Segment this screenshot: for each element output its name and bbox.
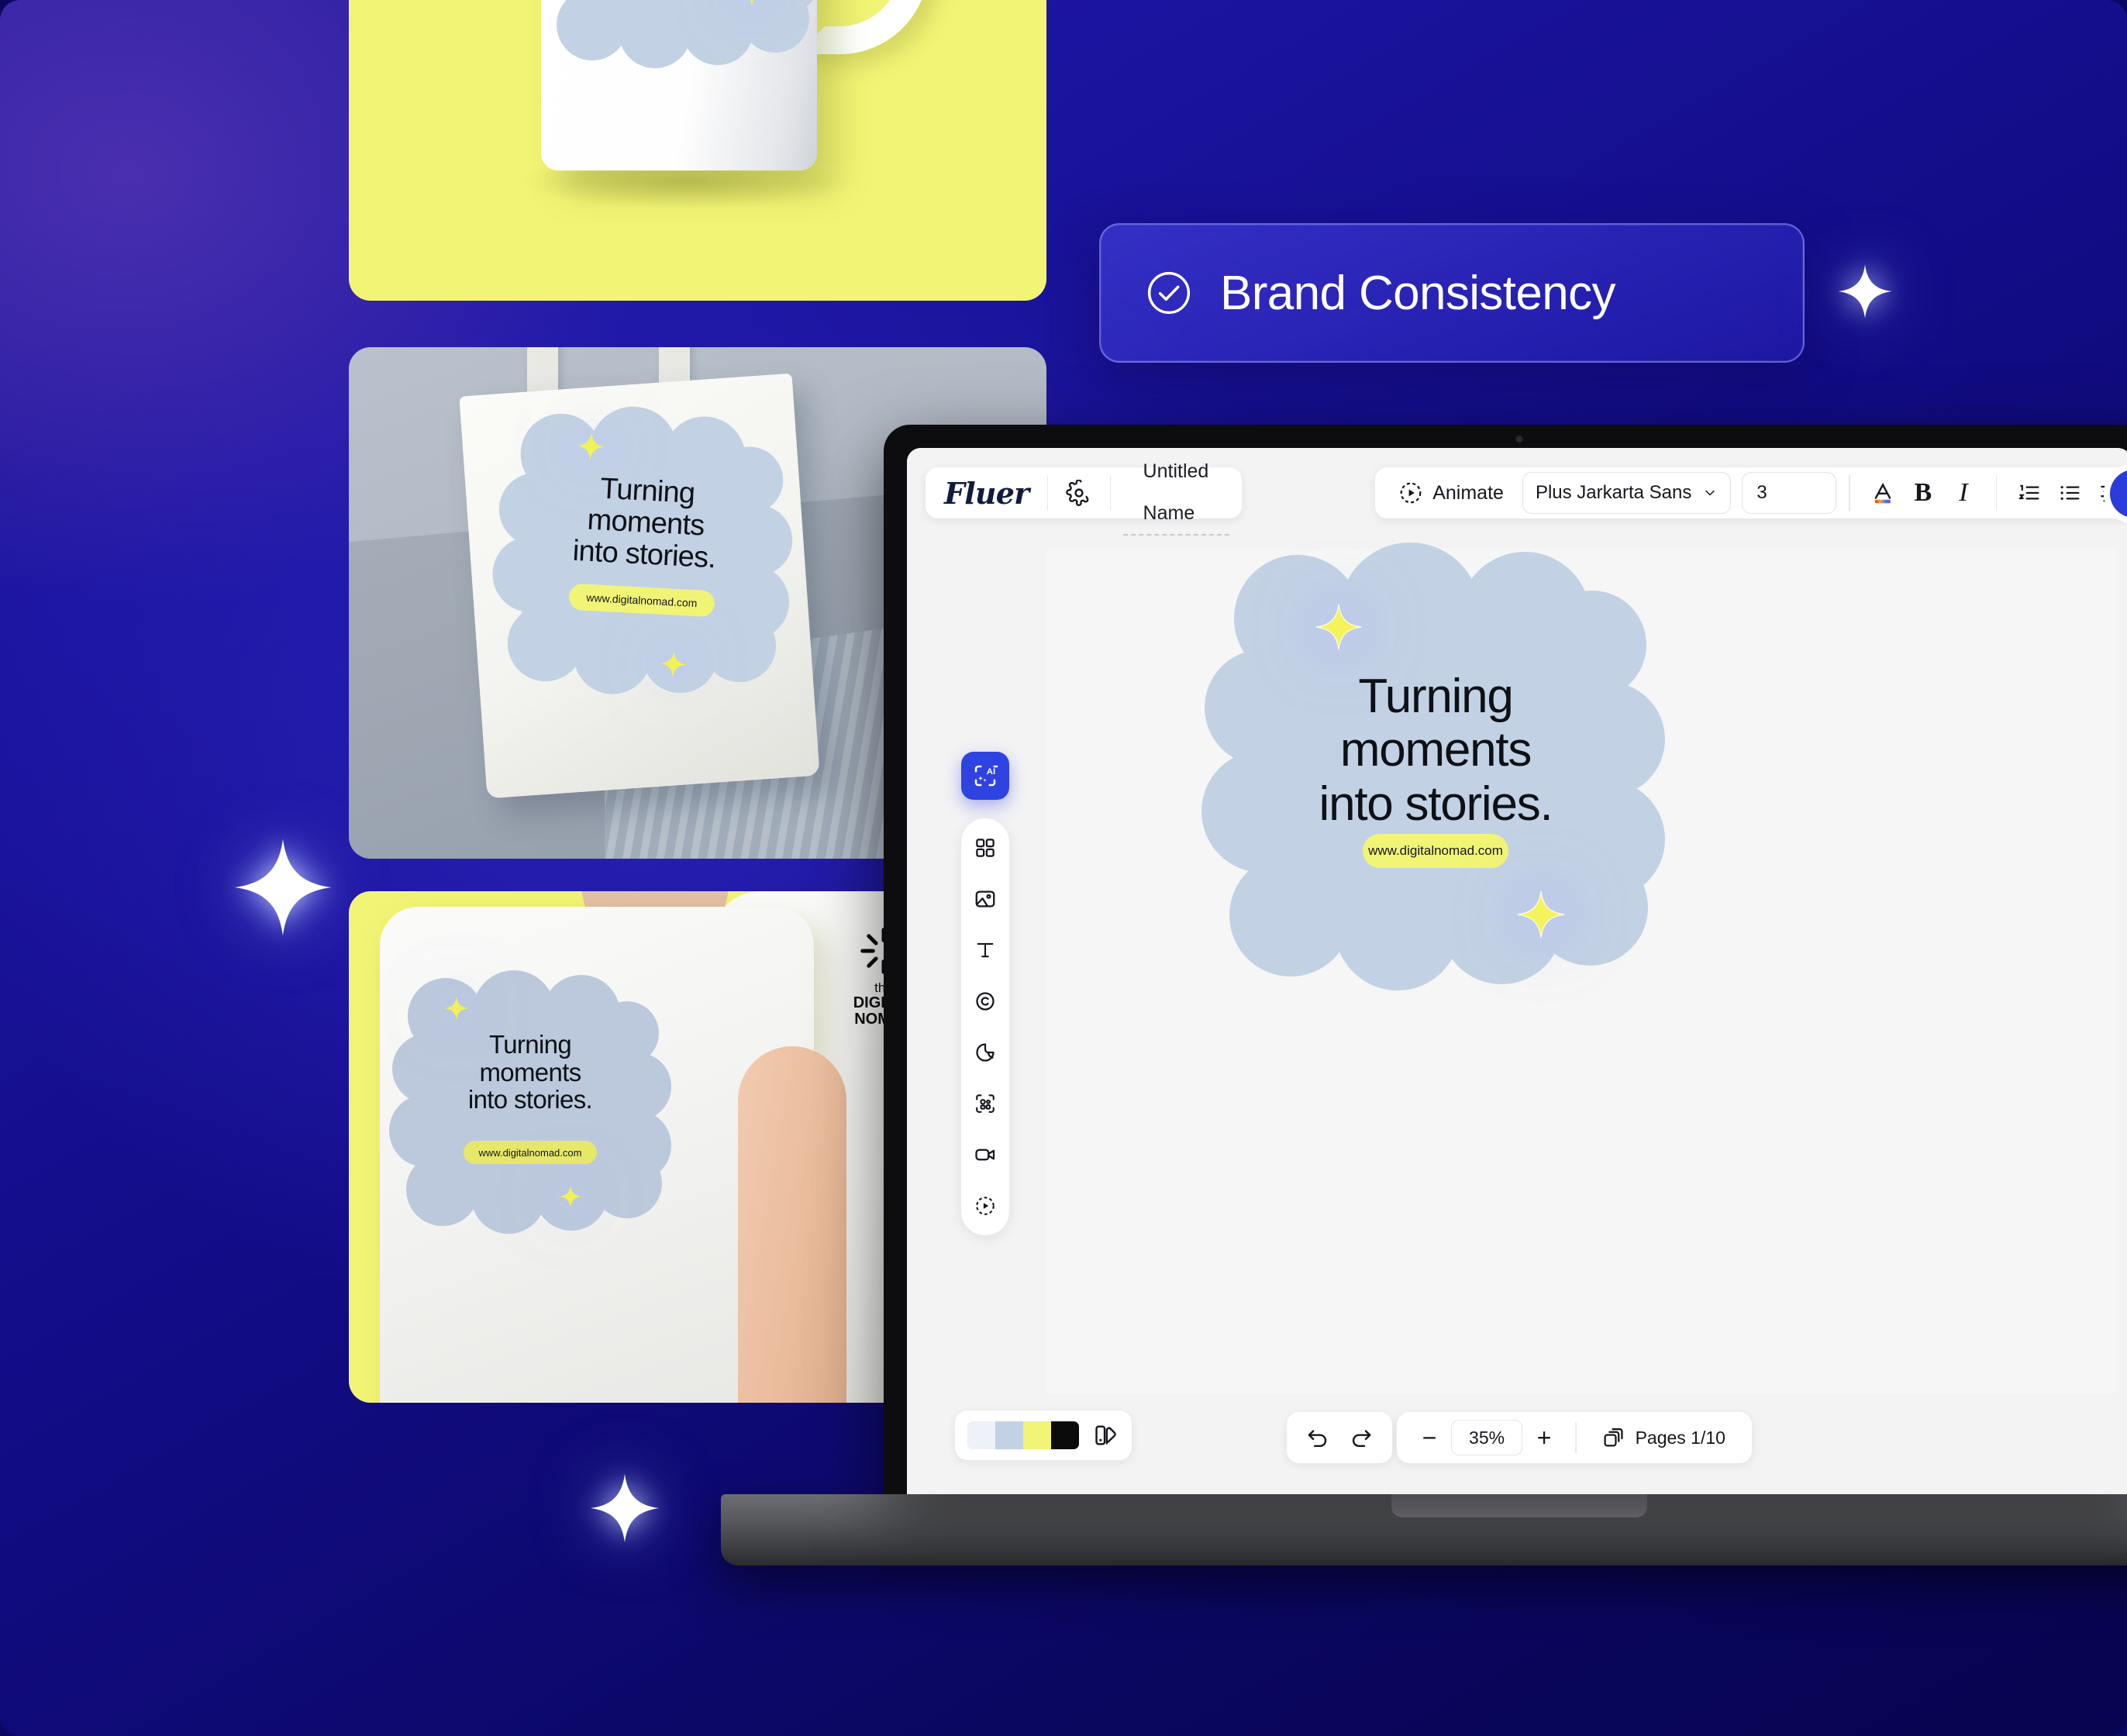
- bullet-list-icon: [2057, 480, 2082, 505]
- zoom-group: − 35% +: [1397, 1412, 1752, 1463]
- sidebar-item-brand[interactable]: [968, 984, 1002, 1018]
- qr-code-icon: [974, 1092, 997, 1115]
- laptop-device: Fluer Untitled Name: [884, 425, 2127, 1541]
- artwork-headline-line3: into stories.: [406, 1086, 654, 1114]
- canvas-headline-line2: moments: [1229, 723, 1642, 777]
- laptop-lid: Fluer Untitled Name: [884, 425, 2127, 1494]
- sidebar-item-templates[interactable]: [968, 831, 1002, 865]
- color-swatch[interactable]: [967, 1421, 995, 1449]
- color-swatch-icon[interactable]: [1093, 1422, 1119, 1448]
- mockup-card-mug: Turning moments into stories.: [349, 0, 1046, 301]
- divider: [1047, 476, 1048, 510]
- font-family-select[interactable]: Plus Jarkarta Sans: [1522, 472, 1731, 514]
- text-color-icon: [1870, 480, 1896, 506]
- text-t-icon: [974, 939, 997, 962]
- gear-icon[interactable]: [1059, 473, 1099, 513]
- sidebar-item-video[interactable]: [968, 1138, 1002, 1172]
- artwork-headline-line1: Turning: [406, 1031, 654, 1059]
- undo-button[interactable]: [1296, 1416, 1339, 1459]
- app-statusbar: − 35% +: [1287, 1412, 1752, 1463]
- animate-label: Animate: [1432, 482, 1504, 505]
- check-circle-icon: [1144, 268, 1194, 318]
- sidebar-item-animate[interactable]: [968, 1189, 1002, 1223]
- tshirt-artwork: Turning moments into stories. www.digita…: [406, 998, 654, 1231]
- brand-palette-bar: [955, 1410, 1132, 1460]
- tote-bag: Turning moments into stories. www.digita…: [459, 374, 819, 799]
- history-group: [1287, 1412, 1392, 1463]
- mug-body: Turning moments into stories.: [541, 0, 817, 170]
- undo-arrow-icon: [1305, 1425, 1330, 1450]
- artwork-headline-line2: moments: [406, 1059, 654, 1087]
- artwork-url-pill: www.digitalnomad.com: [464, 1141, 597, 1164]
- document-name-input[interactable]: Untitled Name: [1123, 450, 1230, 536]
- sidebar-item-qr-code[interactable]: [968, 1087, 1002, 1121]
- animate-button[interactable]: Animate: [1388, 473, 1515, 513]
- tote-artwork: Turning moments into stories. www.digita…: [505, 432, 782, 701]
- app-left-rail: [961, 818, 1009, 1235]
- redo-arrow-icon: [1349, 1425, 1374, 1450]
- zoom-level-value[interactable]: 35%: [1451, 1420, 1522, 1455]
- redo-button[interactable]: [1339, 1416, 1383, 1459]
- font-family-value: Plus Jarkarta Sans: [1536, 482, 1691, 504]
- laptop-base-notch: [1391, 1494, 1647, 1517]
- mug-artwork: Turning moments into stories.: [555, 0, 803, 64]
- bold-button[interactable]: B: [1903, 473, 1943, 513]
- numbered-list-button[interactable]: [2009, 473, 2049, 513]
- divider: [1575, 1422, 1577, 1453]
- divider: [1996, 475, 1998, 511]
- italic-label: I: [1959, 478, 1967, 508]
- design-canvas[interactable]: Turning moments into stories. www.digita…: [1046, 549, 2116, 1393]
- canvas-headline-line1: Turning: [1229, 670, 1642, 723]
- pages-button[interactable]: Pages 1/10: [1586, 1425, 1741, 1450]
- zoom-in-label: +: [1537, 1425, 1552, 1450]
- tshirt-front-person: Turning moments into stories. www.digita…: [380, 907, 814, 1403]
- laptop-screen: Fluer Untitled Name: [907, 448, 2127, 1494]
- ai-sparkle-icon: AI: [971, 762, 999, 790]
- italic-button[interactable]: I: [1943, 473, 1984, 513]
- color-swatch[interactable]: [1051, 1421, 1079, 1449]
- numbered-list-icon: [2017, 480, 2042, 505]
- cloud-blob: [555, 0, 803, 64]
- color-swatch[interactable]: [1023, 1421, 1051, 1449]
- play-circle-dashed-icon: [974, 1194, 997, 1218]
- canvas-artwork[interactable]: Turning moments into stories. www.digita…: [1229, 586, 1642, 989]
- bold-label: B: [1915, 478, 1932, 508]
- canvas-url-pill[interactable]: www.digitalnomad.com: [1363, 834, 1508, 868]
- copyright-circle-icon: [974, 990, 997, 1013]
- zoom-in-button[interactable]: +: [1522, 1416, 1566, 1459]
- text-color-button[interactable]: [1863, 473, 1903, 513]
- model-arm: [738, 1046, 846, 1403]
- sidebar-item-shapes[interactable]: [968, 1035, 1002, 1069]
- app-logo[interactable]: Fluer: [926, 476, 1047, 511]
- fluer-app: Fluer Untitled Name: [907, 448, 2127, 1494]
- pages-label: Pages 1/10: [1636, 1428, 1725, 1448]
- laptop-camera: [1516, 436, 1523, 443]
- brand-consistency-label: Brand Consistency: [1220, 266, 1615, 321]
- chevron-down-icon: [1702, 485, 1718, 501]
- brand-consistency-badge[interactable]: Brand Consistency: [1099, 223, 1805, 363]
- laptop-base: [721, 1494, 2127, 1565]
- color-swatches: [967, 1421, 1079, 1449]
- zoom-out-label: −: [1422, 1425, 1437, 1450]
- divider: [1849, 475, 1850, 511]
- divider: [1110, 476, 1111, 510]
- canvas-headline-line3: into stories.: [1229, 777, 1642, 831]
- brand-group: Fluer Untitled Name: [926, 467, 1242, 518]
- sticker-shape-icon: [974, 1041, 997, 1064]
- sidebar-item-ai-tool[interactable]: AI: [961, 752, 1009, 800]
- app-topbar: Fluer Untitled Name: [907, 448, 2127, 538]
- play-circle-dashed-icon: [1398, 480, 1423, 505]
- svg-text:AI: AI: [987, 767, 995, 777]
- video-camera-icon: [974, 1143, 997, 1166]
- color-swatch[interactable]: [995, 1421, 1023, 1449]
- bullet-list-button[interactable]: [2049, 473, 2090, 513]
- pages-stack-icon: [1601, 1425, 1626, 1450]
- sidebar-item-media[interactable]: [968, 882, 1002, 916]
- image-icon: [974, 887, 997, 911]
- format-toolbar: Animate Plus Jarkarta Sans 3: [1375, 467, 2127, 518]
- sidebar-item-text[interactable]: [968, 933, 1002, 967]
- font-size-input[interactable]: 3: [1742, 472, 1836, 514]
- zoom-out-button[interactable]: −: [1408, 1416, 1451, 1459]
- grid-apps-icon: [974, 836, 997, 859]
